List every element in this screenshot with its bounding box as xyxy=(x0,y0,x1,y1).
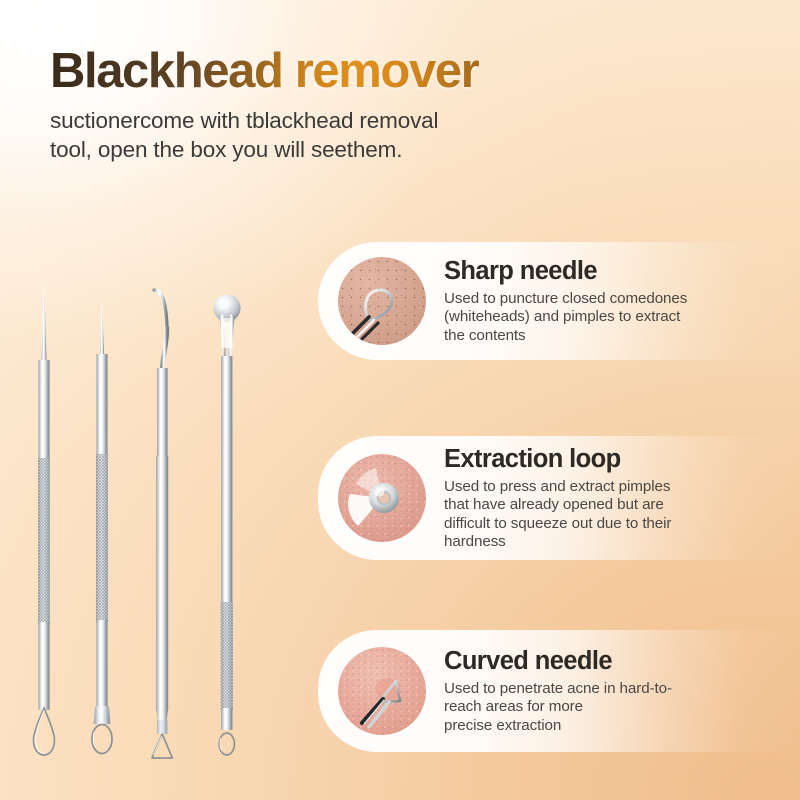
desc-line-3: the contents xyxy=(444,327,794,345)
tool-4-graphic xyxy=(205,290,249,760)
feature-description: Used to press and extract pimples that h… xyxy=(444,478,794,551)
feature-description: Used to puncture closed comedones (white… xyxy=(444,290,794,345)
feature-card-extraction-loop[interactable]: Extraction loop Used to press and extrac… xyxy=(318,436,800,560)
feature-card-sharp-needle[interactable]: Sharp needle Used to puncture closed com… xyxy=(318,242,800,360)
header-block: Blackhead remover suctionercome with tbl… xyxy=(50,46,670,164)
feature-title: Curved needle xyxy=(444,647,794,675)
feature-text-sharp-needle: Sharp needle Used to puncture closed com… xyxy=(444,257,794,345)
curved-needle-triangle-icon xyxy=(338,647,426,735)
feature-title: Extraction loop xyxy=(444,445,794,473)
tool-2-graphic xyxy=(82,292,122,760)
tool-extraction-loop-4 xyxy=(205,290,249,760)
page-title: Blackhead remover xyxy=(50,46,670,97)
tool-sharp-needle-1 xyxy=(24,272,64,760)
desc-line-1: Used to puncture closed comedones xyxy=(444,290,794,308)
tool-lineup xyxy=(0,250,300,760)
tool-sharp-needle-2 xyxy=(82,292,122,760)
desc-line-2: (whiteheads) and pimples to extract xyxy=(444,308,794,326)
tool-curved-needle-3 xyxy=(142,284,186,760)
desc-line-3: precise extraction xyxy=(444,717,794,735)
desc-line-2: reach areas for more xyxy=(444,698,794,716)
feature-title: Sharp needle xyxy=(444,257,794,285)
feature-photo-sharp-needle xyxy=(338,257,426,345)
desc-line-4: hardness xyxy=(444,533,794,551)
product-infographic-poster: Blackhead remover suctionercome with tbl… xyxy=(0,0,800,800)
feature-photo-extraction-loop xyxy=(338,454,426,542)
desc-line-1: Used to penetrate acne in hard-to- xyxy=(444,680,794,698)
sharp-needle-loop-icon xyxy=(338,257,426,345)
subtitle-line-2: tool, open the box you will seethem. xyxy=(50,135,590,164)
feature-text-extraction-loop: Extraction loop Used to press and extrac… xyxy=(444,445,794,551)
desc-line-3: difficult to squeeze out due to their xyxy=(444,515,794,533)
feature-card-curved-needle[interactable]: Curved needle Used to penetrate acne in … xyxy=(318,630,800,752)
tool-1-graphic xyxy=(24,272,64,760)
extraction-ring-icon xyxy=(338,454,426,542)
desc-line-2: that have already opened but are xyxy=(444,496,794,514)
desc-line-1: Used to press and extract pimples xyxy=(444,478,794,496)
page-subtitle: suctionercome with tblackhead removal to… xyxy=(50,106,590,165)
feature-text-curved-needle: Curved needle Used to penetrate acne in … xyxy=(444,647,794,735)
subtitle-line-1: suctionercome with tblackhead removal xyxy=(50,106,590,135)
feature-description: Used to penetrate acne in hard-to- reach… xyxy=(444,680,794,735)
feature-photo-curved-needle xyxy=(338,647,426,735)
tool-3-graphic xyxy=(142,284,186,760)
